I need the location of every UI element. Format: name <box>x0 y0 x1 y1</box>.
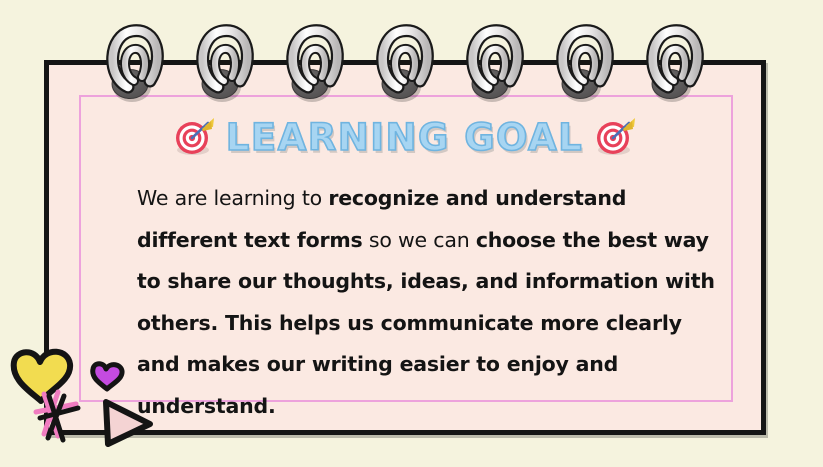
page-title-text: LEARNING GOAL <box>226 119 583 156</box>
note-content: LEARNING GOAL We are learning to recogni… <box>44 60 766 435</box>
dart-target-icon-left <box>172 115 216 159</box>
goal-text-segment-0: We are learning to <box>137 186 328 210</box>
goal-body-text: We are learning to recognize and underst… <box>137 178 732 427</box>
goal-text-segment-3: choose the best way to share our thought… <box>137 228 715 418</box>
dart-target-icon-right <box>593 115 637 159</box>
goal-text-segment-2: so we can <box>363 228 476 252</box>
learning-goal-slide: LEARNING GOAL We are learning to recogni… <box>0 0 823 462</box>
page-title: LEARNING GOAL <box>137 112 732 162</box>
